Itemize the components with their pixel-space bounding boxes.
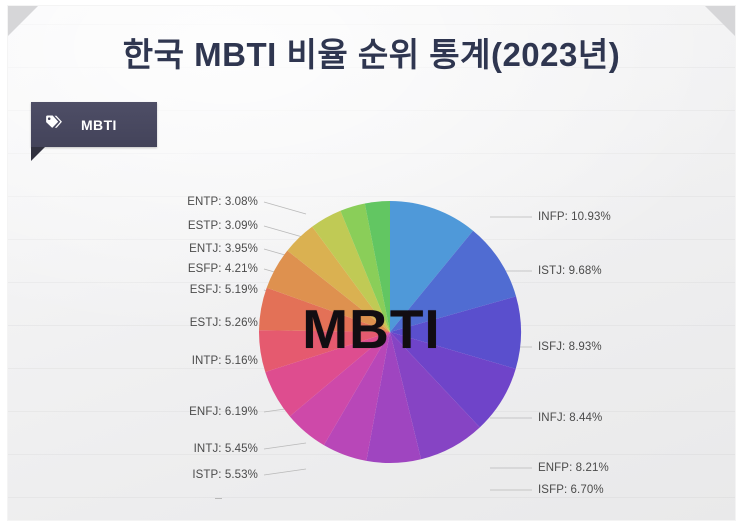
pie-callout-label: ENTJ: 3.95% bbox=[189, 243, 258, 255]
paper-card: 한국 MBTI 비율 순위 통계(2023년) MBTI bbox=[8, 6, 735, 520]
pie-callout-label: ENFP: 8.21% bbox=[538, 462, 609, 474]
pie-callout-label: INTJ: 5.45% bbox=[194, 443, 258, 455]
leader-line bbox=[264, 249, 306, 261]
pie-callout-label: ISTJ: 9.68% bbox=[538, 265, 602, 277]
badge-tail-icon bbox=[31, 147, 45, 161]
leader-line bbox=[264, 226, 306, 238]
leader-line bbox=[264, 406, 306, 412]
page-title: 한국 MBTI 비율 순위 통계(2023년) bbox=[8, 28, 735, 76]
pie-callout-label: ENFJ: 6.19% bbox=[189, 406, 258, 418]
leader-line bbox=[264, 202, 306, 214]
pie-callout-label: ISFJ: 8.93% bbox=[538, 341, 602, 353]
pie-callout-label: ESTP: 3.09% bbox=[188, 220, 258, 232]
slide-canvas: 한국 MBTI 비율 순위 통계(2023년) MBTI bbox=[0, 0, 743, 527]
leader-line bbox=[264, 443, 306, 449]
pie-callout-label: ESFJ: 5.19% bbox=[190, 284, 258, 296]
pie-callout-label: INFJ: 8.44% bbox=[538, 412, 602, 424]
background-ruling-lines bbox=[8, 6, 735, 520]
stray-dash-artifact bbox=[215, 498, 222, 499]
pie-callout-label: ESTJ: 5.26% bbox=[190, 317, 258, 329]
leader-line bbox=[264, 290, 306, 302]
paper-sheen bbox=[8, 6, 735, 520]
pie-callout-label: ISFP: 6.70% bbox=[538, 484, 604, 496]
tag-icon bbox=[45, 114, 63, 135]
pie-callout-label: INFP: 10.93% bbox=[538, 211, 611, 223]
badge-label: MBTI bbox=[81, 117, 117, 133]
pie-callout-label: ESFP: 4.21% bbox=[188, 263, 258, 275]
pie-callout-label: INTP: 5.16% bbox=[192, 355, 258, 367]
pie-center-label: MBTI bbox=[8, 302, 735, 357]
pie-chart-svg bbox=[8, 6, 735, 520]
leader-line bbox=[264, 269, 306, 281]
pie-callout-label: ISTP: 5.53% bbox=[192, 469, 258, 481]
pie-callout-label: ENTP: 3.08% bbox=[187, 196, 258, 208]
mbti-tag-badge[interactable]: MBTI bbox=[31, 102, 157, 147]
leader-line bbox=[264, 469, 306, 475]
pie-chart bbox=[8, 6, 735, 520]
